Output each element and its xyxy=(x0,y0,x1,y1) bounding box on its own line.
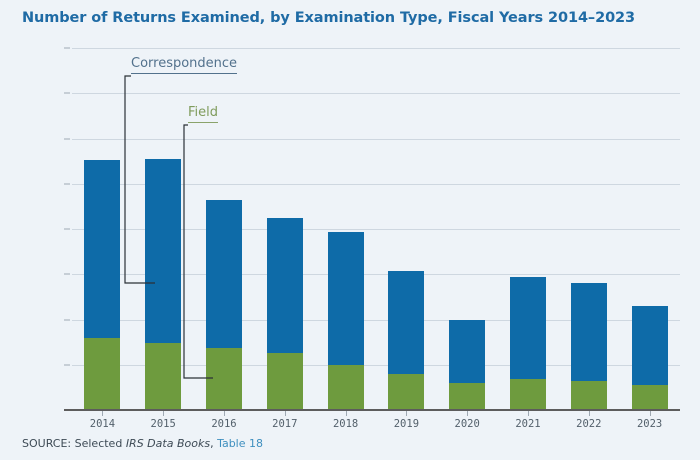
bar-segment-correspondence[interactable] xyxy=(632,306,668,385)
source-prefix: SOURCE: Selected xyxy=(22,437,126,450)
bar-segment-field[interactable] xyxy=(267,353,303,410)
plot-area: 2.00M1.75M1.50M1.25M1.00M0.75M0.50M0.25M… xyxy=(72,48,680,410)
y-axis-tick-mark xyxy=(64,319,70,320)
x-axis-line xyxy=(64,409,680,411)
bar-segment-correspondence[interactable] xyxy=(510,277,546,379)
y-axis-tick-mark xyxy=(64,48,70,49)
source-table-link[interactable]: Table 18 xyxy=(217,437,263,450)
source-note: SOURCE: Selected IRS Data Books, Table 1… xyxy=(22,437,263,450)
y-axis-tick-mark xyxy=(64,274,70,275)
y-axis-tick-mark xyxy=(64,138,70,139)
chart-container: Number of Returns Examined, by Examinati… xyxy=(0,0,700,460)
chart-title: Number of Returns Examined, by Examinati… xyxy=(22,10,682,26)
x-axis-tick-label: 2018 xyxy=(311,418,381,430)
annotation-label-field: Field xyxy=(188,105,218,123)
bar-group[interactable] xyxy=(510,48,546,410)
y-axis-tick-mark xyxy=(64,364,70,365)
bar-segment-field[interactable] xyxy=(449,383,485,410)
x-axis-tick-label: 2023 xyxy=(615,418,685,430)
bar-segment-correspondence[interactable] xyxy=(328,232,364,365)
x-axis-tick-label: 2019 xyxy=(371,418,441,430)
bar-segment-correspondence[interactable] xyxy=(267,218,303,353)
bar-group[interactable] xyxy=(388,48,424,410)
x-axis-tick-label: 2022 xyxy=(554,418,624,430)
x-axis-tick-mark xyxy=(528,411,529,416)
bar-segment-field[interactable] xyxy=(84,338,120,410)
x-axis-tick-mark xyxy=(650,411,651,416)
y-axis-tick-mark xyxy=(64,93,70,94)
bar-group[interactable] xyxy=(206,48,242,410)
y-axis-tick-mark xyxy=(64,183,70,184)
bar-group[interactable] xyxy=(571,48,607,410)
bar-segment-field[interactable] xyxy=(328,365,364,410)
x-axis-tick-label: 2014 xyxy=(67,418,137,430)
bar-group[interactable] xyxy=(84,48,120,410)
bar-segment-correspondence[interactable] xyxy=(571,283,607,381)
x-axis-tick-mark xyxy=(163,411,164,416)
x-axis-tick-mark xyxy=(102,411,103,416)
x-axis-tick-label: 2016 xyxy=(189,418,259,430)
x-axis-tick-mark xyxy=(346,411,347,416)
bar-group[interactable] xyxy=(145,48,181,410)
bar-segment-correspondence[interactable] xyxy=(206,200,242,348)
x-axis-tick-label: 2020 xyxy=(432,418,502,430)
bar-segment-field[interactable] xyxy=(632,385,668,410)
bar-segment-correspondence[interactable] xyxy=(84,160,120,337)
source-publication: IRS Data Books xyxy=(126,437,210,450)
bar-segment-correspondence[interactable] xyxy=(449,320,485,383)
x-axis-tick-label: 2021 xyxy=(493,418,563,430)
x-axis-tick-mark xyxy=(406,411,407,416)
x-axis-tick-label: 2017 xyxy=(250,418,320,430)
x-axis-tick-label: 2015 xyxy=(128,418,198,430)
annotation-label-correspondence: Correspondence xyxy=(131,56,237,74)
bar-segment-correspondence[interactable] xyxy=(388,271,424,374)
bar-segment-field[interactable] xyxy=(571,381,607,410)
source-separator: , xyxy=(210,437,217,450)
bar-group[interactable] xyxy=(632,48,668,410)
y-axis-tick-mark xyxy=(64,229,70,230)
bar-segment-correspondence[interactable] xyxy=(145,159,181,343)
bar-segment-field[interactable] xyxy=(145,343,181,410)
bar-group[interactable] xyxy=(328,48,364,410)
bar-segment-field[interactable] xyxy=(510,379,546,410)
x-axis-tick-mark xyxy=(224,411,225,416)
bar-group[interactable] xyxy=(449,48,485,410)
x-axis-tick-mark xyxy=(589,411,590,416)
bar-segment-field[interactable] xyxy=(206,348,242,410)
bar-group[interactable] xyxy=(267,48,303,410)
bar-segment-field[interactable] xyxy=(388,374,424,410)
x-axis-tick-mark xyxy=(285,411,286,416)
x-axis-tick-mark xyxy=(467,411,468,416)
